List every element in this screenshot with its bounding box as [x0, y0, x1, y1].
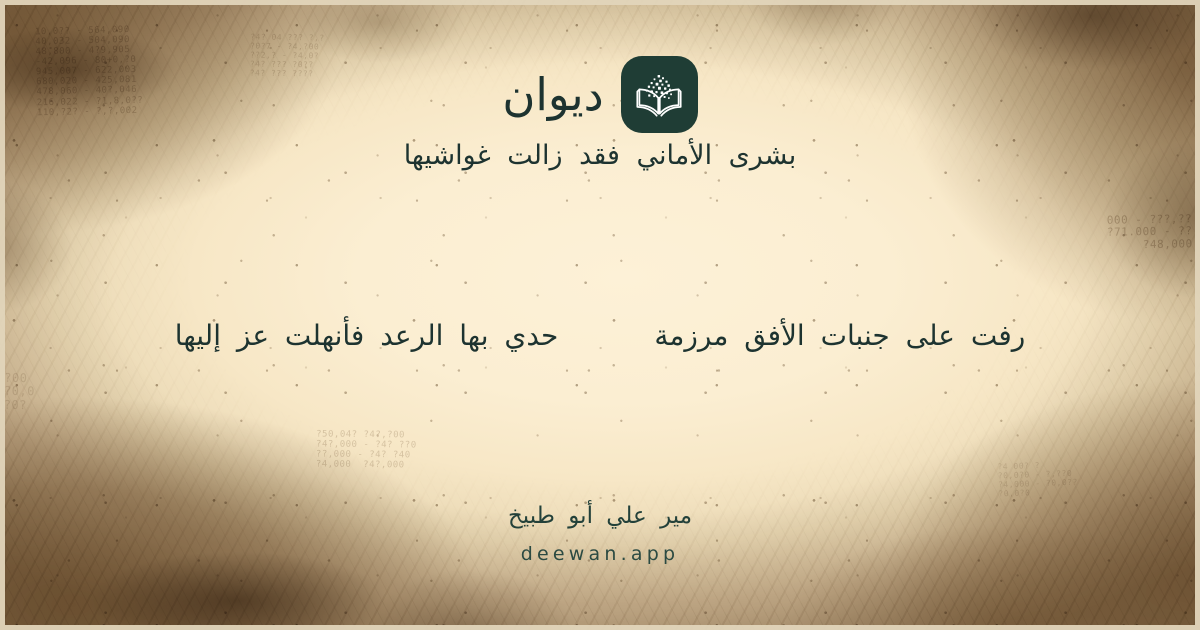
verse-first-hemistich: رفت على جنبات الأفق مرزمة	[654, 316, 1025, 357]
verse-second-hemistich: حدي بها الرعد فأنهلت عز إليها	[175, 316, 559, 357]
brand-lockup: ديوان	[0, 56, 1200, 133]
open-book-with-sparkles-icon	[634, 73, 684, 117]
poem-author: مير علي أبو طبيخ	[0, 500, 1200, 532]
poem-verse: رفت على جنبات الأفق مرزمة حدي بها الرعد …	[0, 316, 1200, 357]
app-name: ديوان	[502, 72, 603, 117]
app-logo-tile	[621, 56, 698, 133]
site-url: deewan.app	[0, 541, 1200, 568]
card-content: ديوان بشرى الأماني فقد زالت غواشيها رفت …	[0, 0, 1200, 630]
poem-opening-line: بشرى الأماني فقد زالت غواشيها	[0, 136, 1200, 175]
deewan-poem-share-card: 10,0?? - 564,090 40,032 - 504,090 48,800…	[0, 0, 1200, 630]
